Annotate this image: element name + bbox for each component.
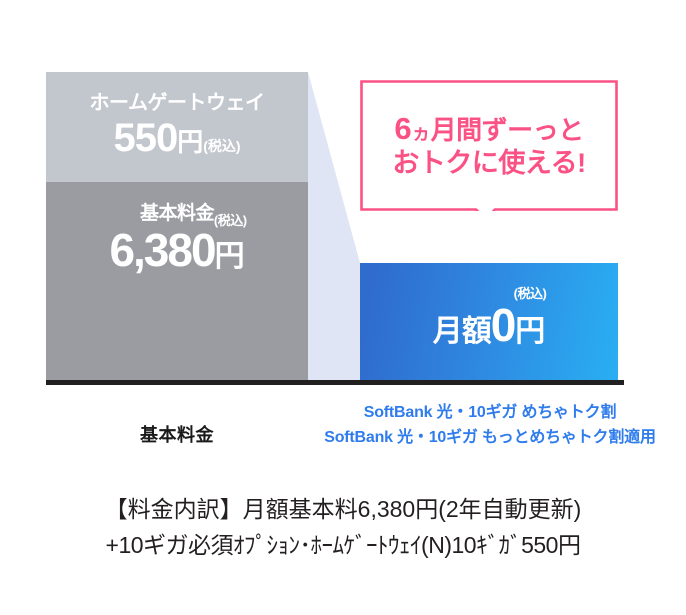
base-fee-labels: 基本料金 6,380円 (税込)	[46, 204, 308, 273]
monthly-label: 月額	[433, 315, 491, 348]
legend-discount-line-1: SoftBank 光・10ギガ めちゃトク割	[300, 401, 680, 426]
home-gateway-tax-note: (税込)	[203, 138, 240, 154]
price-breakdown-disclaimer: 【料金内訳】月額基本料6,380円(2年自動更新) +10ギガ必須ｵﾌﾟｼｮﾝ･…	[0, 492, 686, 563]
base-fee-tax-note: (税込)	[214, 214, 247, 227]
callout-line-1: 6ヵ月間ずーっと	[394, 111, 583, 148]
legend-label-discounts: SoftBank 光・10ギガ めちゃトク割 SoftBank 光・10ギガ も…	[300, 401, 680, 451]
base-fee-yen-unit: 円	[215, 240, 245, 273]
legend-discount-line-2: SoftBank 光・10ギガ もっとめちゃトク割適用	[300, 426, 680, 451]
disclaimer-line-1: 【料金内訳】月額基本料6,380円(2年自動更新)	[0, 492, 686, 528]
home-gateway-title: ホームゲートウェイ	[46, 92, 308, 114]
home-gateway-yen-unit: 円	[177, 127, 203, 157]
bar-discounted-price: 月額0円 (税込)	[360, 263, 618, 380]
callout-text: 6ヵ月間ずーっと おトクに使える!	[360, 80, 618, 211]
callout-months-number: 6	[394, 111, 411, 146]
discounted-yen-unit: 円	[515, 315, 545, 348]
discounted-price-labels: 月額0円 (税込)	[360, 263, 618, 380]
home-gateway-amount: 550	[113, 116, 177, 160]
connector-wedge	[308, 72, 360, 380]
base-fee-price: 6,380円 (税込)	[109, 227, 244, 273]
discounted-price: 月額0円 (税込)	[433, 296, 546, 348]
legend-label-base-fee: 基本料金	[46, 421, 308, 447]
bar-current-price: ホームゲートウェイ 550円(税込) 基本料金 6,380円 (税込)	[46, 72, 308, 380]
callout-months-counter: ヵ	[412, 123, 431, 144]
base-fee-amount: 6,380	[109, 224, 214, 276]
chart-baseline	[46, 380, 624, 385]
base-fee-title: 基本料金	[46, 204, 308, 225]
home-gateway-labels: ホームゲートウェイ 550円(税込)	[46, 92, 308, 158]
price-comparison-infographic: ホームゲートウェイ 550円(税込) 基本料金 6,380円 (税込) 月額0円…	[0, 0, 686, 615]
home-gateway-price: 550円(税込)	[46, 118, 308, 158]
discounted-amount: 0	[491, 299, 516, 351]
discounted-tax-note: (税込)	[514, 287, 547, 300]
callout-line-2: おトクに使える!	[392, 148, 585, 180]
promo-callout: 6ヵ月間ずーっと おトクに使える!	[360, 80, 618, 211]
callout-line-1-rest: 月間ずーっと	[431, 115, 584, 145]
disclaimer-line-2: +10ギガ必須ｵﾌﾟｼｮﾝ･ﾎｰﾑｹﾞｰﾄｳｪｲ(N)10ｷﾞｶﾞ550円	[0, 528, 686, 564]
